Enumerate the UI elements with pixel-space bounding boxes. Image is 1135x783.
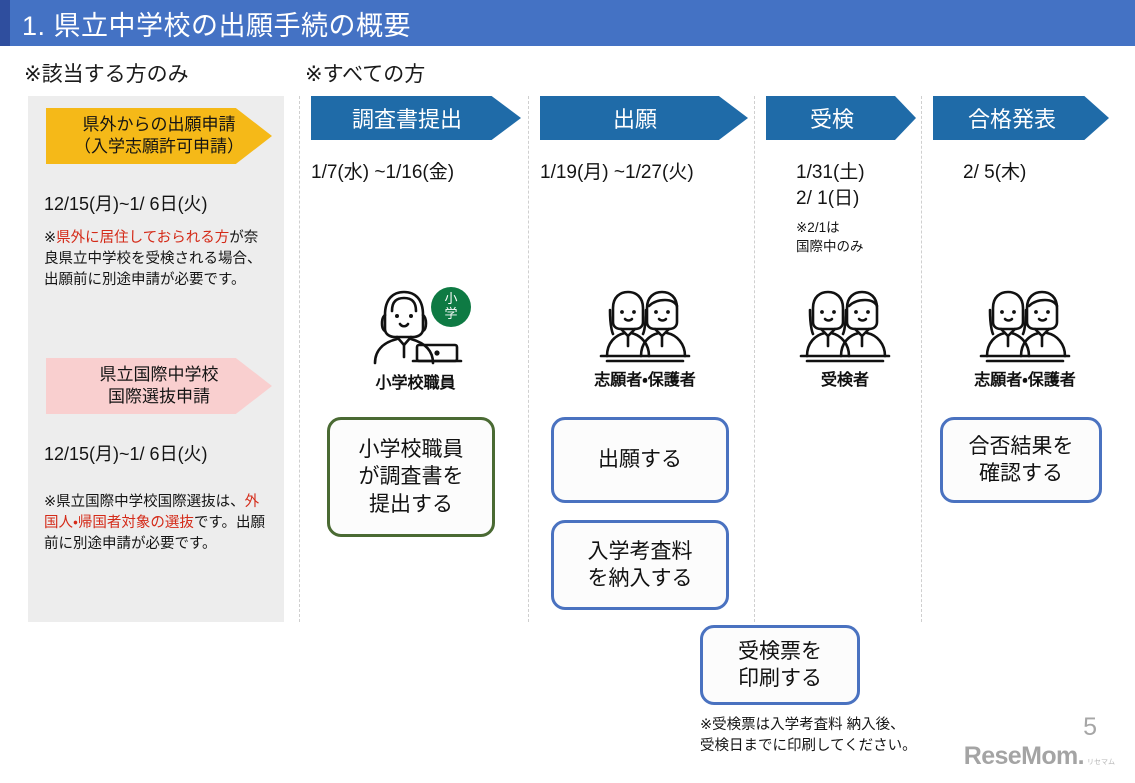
page-title: 1. 県立中学校の出願手続の概要 [22,4,411,43]
banner-international-selection-application: 県立国際中学校 国際選抜申請 [46,358,272,414]
stage-chevron-results-announcement: 合格発表 [933,96,1109,140]
column-divider [528,96,529,622]
action-box-print-exam-ticket: 受検票を 印刷する [700,625,860,705]
stage-subnote: ※2/1は 国際中のみ [766,219,916,257]
two-students-icon [797,288,893,364]
badge-text-line2: 学 [444,306,457,321]
stage-label: 出願 [613,102,657,134]
international-selection-date: 12/15(月)~1/ 6日(火) [44,440,208,466]
action-box-check-results: 合否結果を 確認する [940,417,1102,503]
actor-label: 受検者 [790,366,900,390]
two-students-icon [597,288,693,364]
flow-column-results-announcement: 合格発表 2/ 5(木) [933,96,1109,186]
action-box-submit-report: 小学校職員 が調査書を 提出する [327,417,495,537]
stage-chevron-examination: 受検 [766,96,916,140]
banner-out-of-prefecture-application: 県外からの出願申請 （入学志願許可申請） [46,108,272,164]
banner-out-of-prefecture-label: 県外からの出願申請 （入学志願許可申請） [74,114,244,159]
actor-applicant-and-guardian-results: 志願者・保護者 [955,288,1095,390]
stage-date: 1/19(月) ~1/27(火) [540,160,748,186]
stage-date: 1/7(水) ~1/16(金) [311,160,521,186]
print-exam-ticket-note: ※受検票は入学考査料 納入後、 受検日までに印刷してください。 [700,715,990,757]
stage-chevron-report-submission: 調査書提出 [311,96,521,140]
stage-date: 2/ 5(木) [933,160,1109,186]
actor-examinee: 受検者 [790,288,900,390]
out-of-prefecture-date: 12/15(月)~1/ 6日(火) [44,190,208,216]
action-box-pay-exam-fee: 入学考査料 を納入する [551,520,729,610]
column-divider [754,96,755,622]
banner-international-label: 県立国際中学校 国際選抜申請 [100,364,219,409]
column-divider [299,96,300,622]
caption-conditional-applicants: ※該当する方のみ [24,58,189,88]
stage-chevron-application: 出願 [540,96,748,140]
note-prefix: ※県立国際中学校国際選抜は、 [44,494,245,510]
resemom-watermark: ReseMom. リセマム [964,742,1115,771]
two-students-icon [977,288,1073,364]
badge-text-line1: 小 [444,291,457,306]
stage-label: 受検 [810,102,854,134]
actor-applicant-and-guardian: 志願者・保護者 [565,288,725,390]
slide-title-bar: 1. 県立中学校の出願手続の概要 [0,0,1135,46]
international-selection-note: ※県立国際中学校国際選抜は、外国人・帰国者対象の選抜です。出願前に別途申請が必要… [44,492,266,555]
actor-label: 小学校職員 [333,369,498,393]
note-highlight: 県外に居住しておられる方 [56,230,229,246]
note-prefix: ※ [44,230,56,246]
watermark-sub-text: リセマム [1087,757,1115,767]
flow-column-application: 出願 1/19(月) ~1/27(火) [540,96,748,186]
flow-column-report-submission: 調査書提出 1/7(水) ~1/16(金) [311,96,521,186]
stage-label: 合格発表 [968,102,1056,134]
title-accent-bar [0,0,10,46]
watermark-main-text: ReseMom. [964,742,1084,771]
column-divider [921,96,922,622]
teacher-with-laptop-icon: 小 学 [361,285,471,367]
out-of-prefecture-note: ※県外に居住しておられる方が奈良県立中学校を受検される場合、出願前に別途申請が必… [44,228,266,291]
action-box-apply: 出願する [551,417,729,503]
stage-date: 1/31(土) 2/ 1(日) [766,160,916,211]
stage-label: 調査書提出 [352,102,462,134]
page-number: 5 [1083,713,1097,742]
actor-label: 志願者・保護者 [565,366,725,390]
flow-column-examination: 受検 1/31(土) 2/ 1(日) ※2/1は 国際中のみ [766,96,916,257]
actor-label: 志願者・保護者 [955,366,1095,390]
actor-elementary-school-staff: 小 学 小学校職員 [333,285,498,393]
caption-all-applicants: ※すべての方 [305,58,425,88]
